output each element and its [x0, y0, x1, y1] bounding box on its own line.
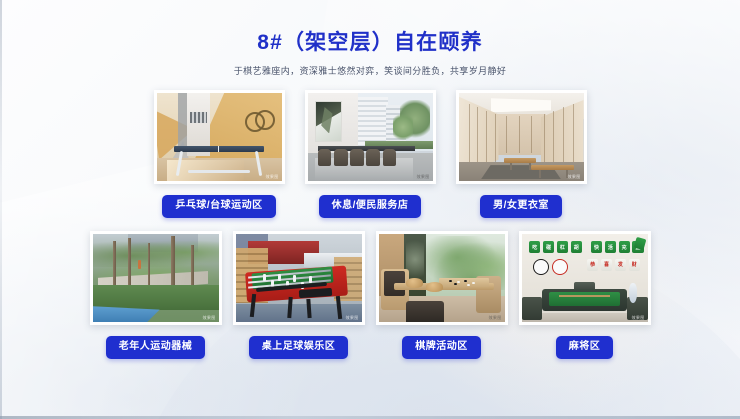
amenity-label-senior-fitness[interactable]: 老年人运动器械	[106, 336, 206, 359]
photo-watermark: 效果图	[203, 316, 216, 320]
mahjong-wall-tile: 碰	[543, 241, 554, 253]
mahjong-wall-tile: 吃	[529, 241, 540, 253]
page-subtitle: 于棋艺雅座内，资深雅士悠然对弈，笑谈间分胜负，共享岁月静好	[0, 64, 740, 77]
photo-watermark: 效果图	[417, 175, 430, 179]
mahjong-white-tile: 财	[629, 259, 640, 271]
amenity-label-foosball[interactable]: 桌上足球娱乐区	[249, 336, 349, 359]
amenity-card[interactable]: 效果图 休息/便民服务店	[305, 90, 436, 218]
lounge-terrace-photo: 效果图	[305, 90, 436, 184]
mahjong-wall-tile: 活	[605, 241, 616, 253]
amenity-card[interactable]: 效果图 棋牌活动区	[376, 231, 508, 359]
ping-pong-room-photo: 效果图	[154, 90, 285, 184]
amenity-row-top: 效果图 乒乓球/台球运动区	[0, 90, 740, 218]
amenity-card[interactable]: 吃 碰 杠 胡 快 活 充 盈 恭 喜 发 财	[519, 231, 651, 359]
mahjong-wall-tile: 胡	[571, 241, 582, 253]
amenity-label-lounge[interactable]: 休息/便民服务店	[319, 195, 422, 218]
amenity-label-locker-room[interactable]: 男/女更衣室	[480, 195, 562, 218]
photo-watermark: 效果图	[346, 316, 359, 320]
mahjong-white-tile: 发	[615, 259, 626, 271]
amenity-card[interactable]: 效果图 老年人运动器械	[90, 231, 222, 359]
photo-watermark: 效果图	[489, 316, 502, 320]
amenity-label-chess-cards[interactable]: 棋牌活动区	[402, 336, 481, 359]
mahjong-circle-black	[533, 259, 549, 275]
mahjong-wall-tile: 杠	[557, 241, 568, 253]
mahjong-white-tile: 恭	[587, 259, 598, 271]
go-chess-table-photo: 效果图	[376, 231, 508, 325]
mahjong-circle-red	[552, 259, 568, 275]
mahjong-wall-tile: 快	[591, 241, 602, 253]
photo-watermark: 效果图	[266, 175, 279, 179]
mahjong-wall-tile: 充	[619, 241, 630, 253]
amenity-card[interactable]: 效果图 乒乓球/台球运动区	[154, 90, 285, 218]
mahjong-white-tile: 喜	[601, 259, 612, 271]
amenity-card[interactable]: 效果图 桌上足球娱乐区	[233, 231, 365, 359]
garden-fitness-photo: 效果图	[90, 231, 222, 325]
amenity-label-ping-pong[interactable]: 乒乓球/台球运动区	[162, 195, 275, 218]
locker-room-photo: 效果图	[456, 90, 587, 184]
photo-watermark: 效果图	[632, 316, 645, 320]
foosball-table-photo: 效果图	[233, 231, 365, 325]
page-title: 8#（架空层）自在颐养	[0, 30, 740, 55]
photo-watermark: 效果图	[568, 175, 581, 179]
mahjong-room-photo: 吃 碰 杠 胡 快 活 充 盈 恭 喜 发 财	[519, 231, 651, 325]
slide-canvas: 8#（架空层）自在颐养 于棋艺雅座内，资深雅士悠然对弈，笑谈间分胜负，共享岁月静…	[0, 0, 740, 419]
amenity-card[interactable]: 效果图 男/女更衣室	[456, 90, 587, 218]
slide-header: 8#（架空层）自在颐养 于棋艺雅座内，资深雅士悠然对弈，笑谈间分胜负，共享岁月静…	[0, 30, 740, 77]
amenity-label-mahjong[interactable]: 麻将区	[556, 336, 614, 359]
amenity-row-bottom: 效果图 老年人运动器械	[0, 231, 740, 359]
